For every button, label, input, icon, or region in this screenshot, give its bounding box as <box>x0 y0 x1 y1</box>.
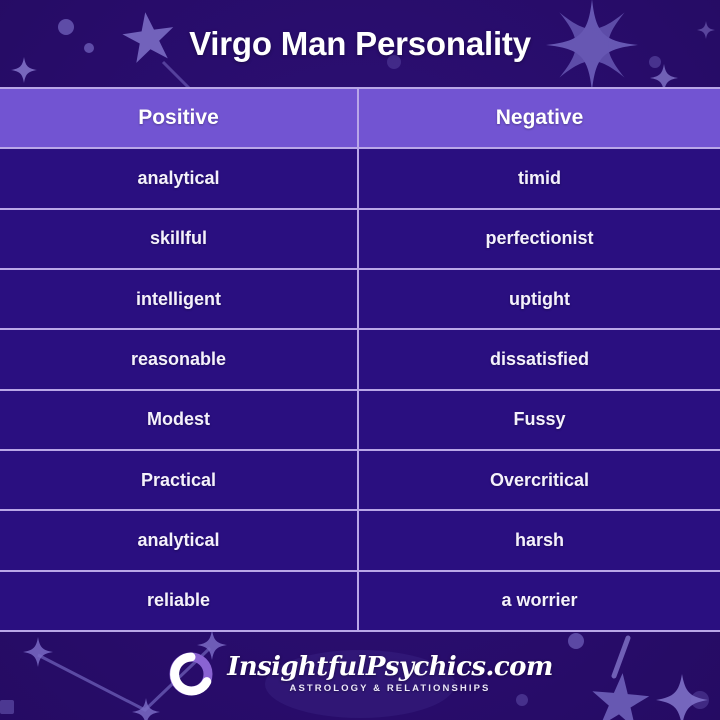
brand-text: InsightfulPsychics.com ASTROLOGY & RELAT… <box>227 654 553 694</box>
cell-positive: Practical <box>0 451 357 509</box>
cell-negative-label: Fussy <box>513 409 565 430</box>
cell-negative-label: uptight <box>509 289 570 310</box>
virgo-personality-infographic: Virgo Man Personality Positive Negative … <box>0 0 720 720</box>
cell-positive-label: analytical <box>137 168 219 189</box>
cell-positive: reliable <box>0 572 357 630</box>
table-row: Modest Fussy <box>0 391 720 449</box>
table-row: skillful perfectionist <box>0 210 720 268</box>
brand-lockup[interactable]: InsightfulPsychics.com ASTROLOGY & RELAT… <box>167 650 553 698</box>
table-header-row: Positive Negative <box>0 89 720 147</box>
cell-positive-label: reliable <box>147 590 210 611</box>
cell-positive-label: reasonable <box>131 349 226 370</box>
page-title: Virgo Man Personality <box>189 25 531 63</box>
table-row: analytical harsh <box>0 511 720 569</box>
cell-negative-label: harsh <box>515 530 564 551</box>
cell-negative-label: a worrier <box>501 590 577 611</box>
header-banner: Virgo Man Personality <box>0 0 720 87</box>
cell-negative: harsh <box>359 511 720 569</box>
footer-brand: InsightfulPsychics.com ASTROLOGY & RELAT… <box>0 632 720 720</box>
table-row: analytical timid <box>0 149 720 207</box>
cell-positive: skillful <box>0 210 357 268</box>
cell-negative: timid <box>359 149 720 207</box>
cell-positive-label: analytical <box>137 530 219 551</box>
table-row: reasonable dissatisfied <box>0 330 720 388</box>
column-header-negative-label: Negative <box>496 106 584 130</box>
table-row: reliable a worrier <box>0 572 720 630</box>
brand-wordmark: InsightfulPsychics.com <box>227 654 553 680</box>
cell-negative: Fussy <box>359 391 720 449</box>
circle-ring-logo-icon <box>167 650 215 698</box>
cell-positive-label: skillful <box>150 228 207 249</box>
cell-negative-label: dissatisfied <box>490 349 589 370</box>
cell-negative: dissatisfied <box>359 330 720 388</box>
cell-negative-label: timid <box>518 168 561 189</box>
cell-positive: reasonable <box>0 330 357 388</box>
cell-positive-label: Practical <box>141 470 216 491</box>
column-header-negative: Negative <box>359 89 720 147</box>
cell-negative: perfectionist <box>359 210 720 268</box>
cell-negative: a worrier <box>359 572 720 630</box>
cell-positive: analytical <box>0 149 357 207</box>
cell-negative: Overcritical <box>359 451 720 509</box>
cell-positive: intelligent <box>0 270 357 328</box>
cell-positive-label: Modest <box>147 409 210 430</box>
cell-negative: uptight <box>359 270 720 328</box>
table-row: intelligent uptight <box>0 270 720 328</box>
brand-tagline: ASTROLOGY & RELATIONSHIPS <box>290 683 491 694</box>
table-row: Practical Overcritical <box>0 451 720 509</box>
column-header-positive-label: Positive <box>138 106 219 130</box>
cell-positive: Modest <box>0 391 357 449</box>
cell-positive-label: intelligent <box>136 289 221 310</box>
personality-traits-table: Positive Negative analytical timid skill… <box>0 87 720 632</box>
cell-negative-label: Overcritical <box>490 470 589 491</box>
cell-positive: analytical <box>0 511 357 569</box>
column-header-positive: Positive <box>0 89 357 147</box>
cell-negative-label: perfectionist <box>485 228 593 249</box>
